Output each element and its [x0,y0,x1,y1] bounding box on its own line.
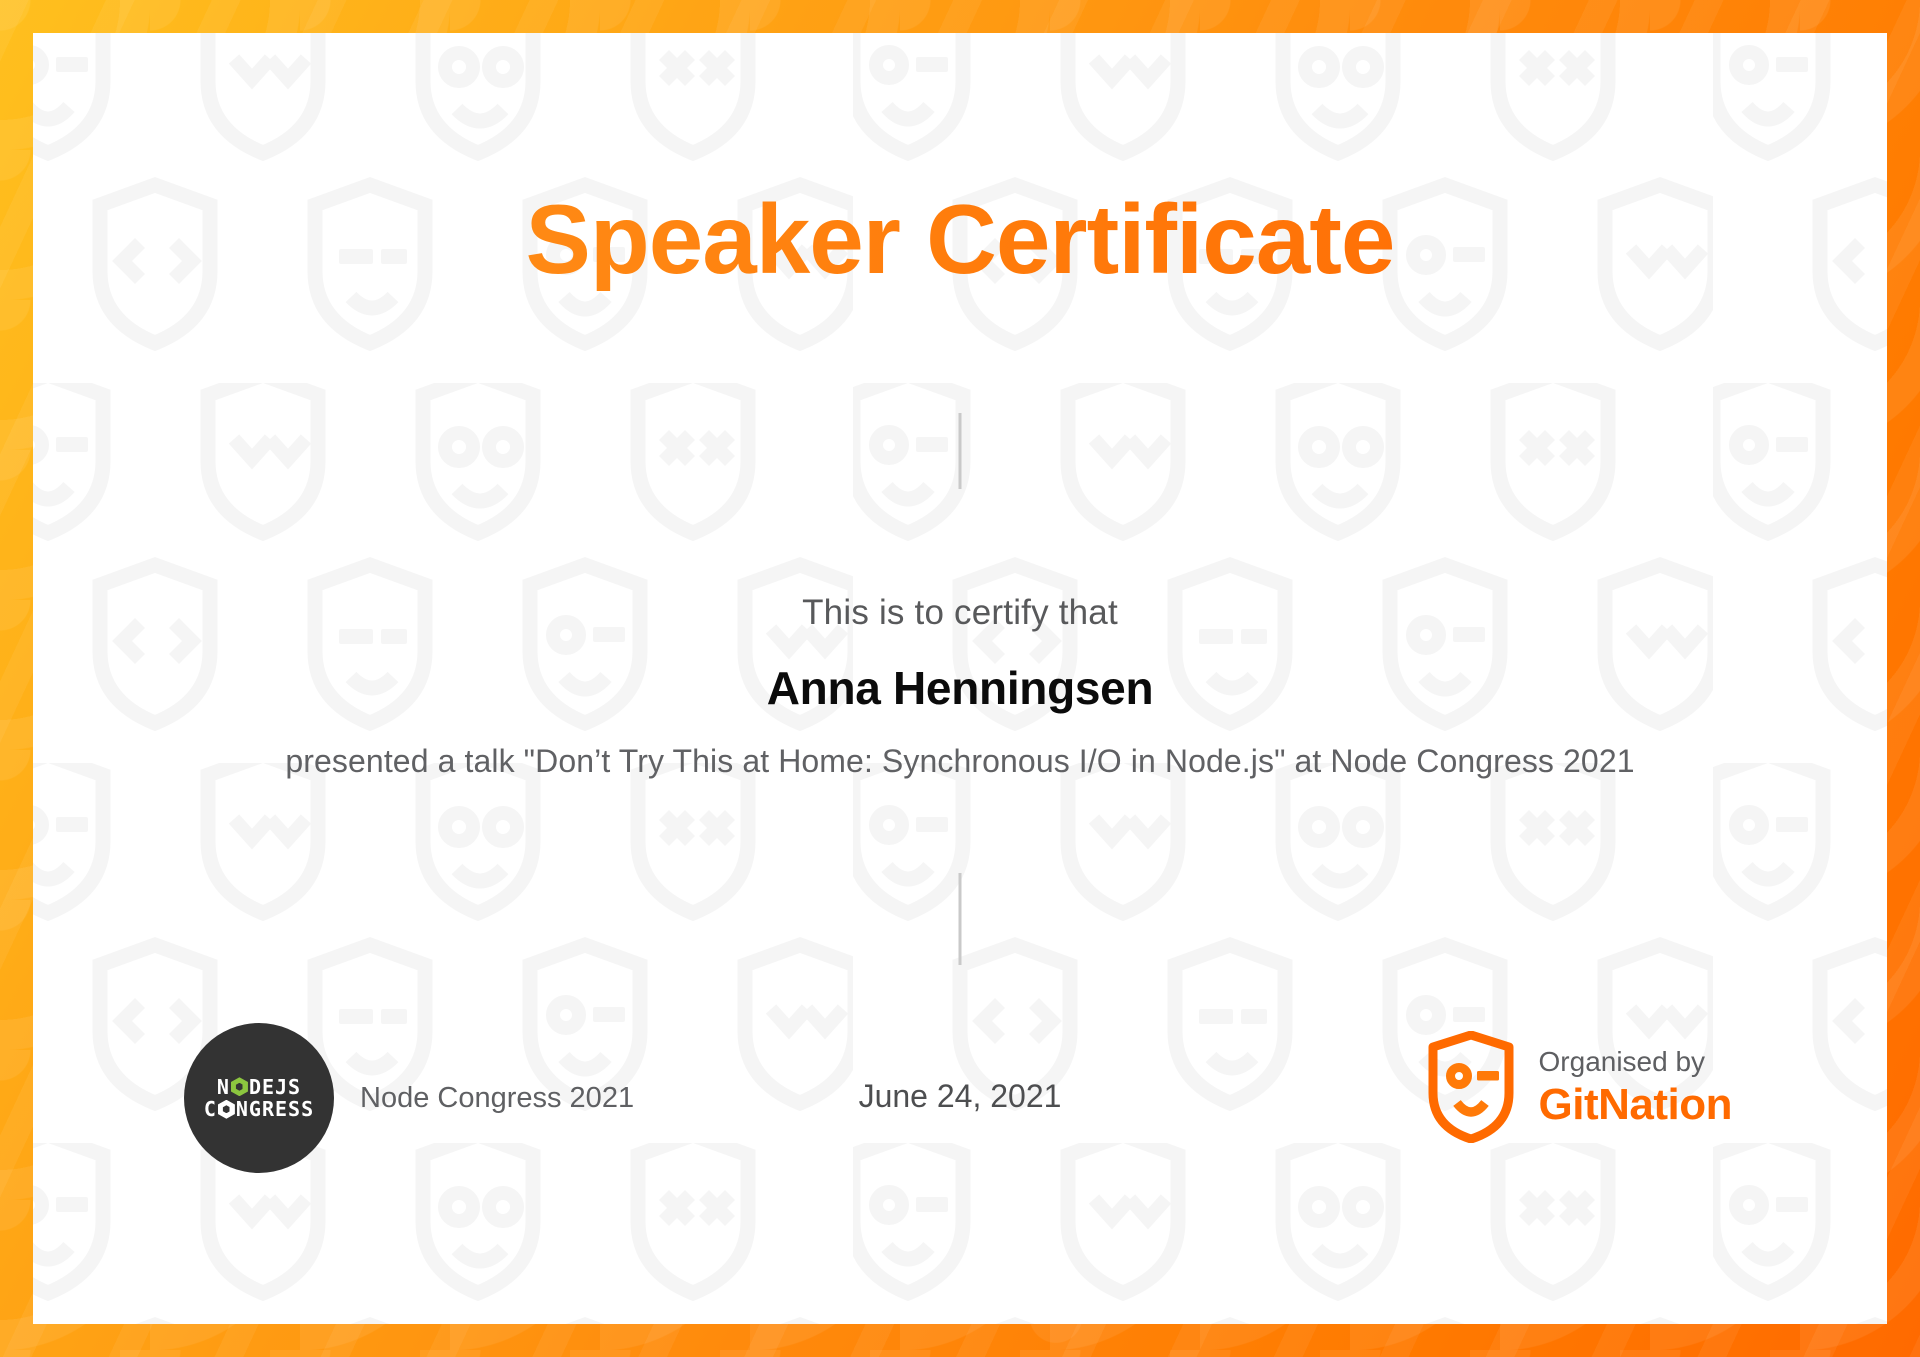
organiser-block: Organised by GitNation [1425,1031,1732,1143]
organised-by-label: Organised by [1539,1045,1732,1079]
organiser-name: GitNation [1539,1081,1732,1129]
divider-bottom [959,873,962,965]
certificate-title: Speaker Certificate [33,188,1887,291]
gitnation-shield-face-icon [1425,1031,1517,1143]
organiser-text: Organised by GitNation [1539,1045,1732,1129]
recipient-name: Anna Henningsen [33,661,1887,715]
talk-description: presented a talk "Don’t Try This at Home… [245,741,1675,783]
certificate-root: Speaker Certificate This is to certify t… [0,0,1920,1357]
divider-top [959,413,962,489]
certificate-card: Speaker Certificate This is to certify t… [33,33,1887,1324]
certificate-footer: N DEJS C NGRESS Node Congress 2021 June … [33,1023,1887,1223]
certify-line: This is to certify that [33,593,1887,633]
